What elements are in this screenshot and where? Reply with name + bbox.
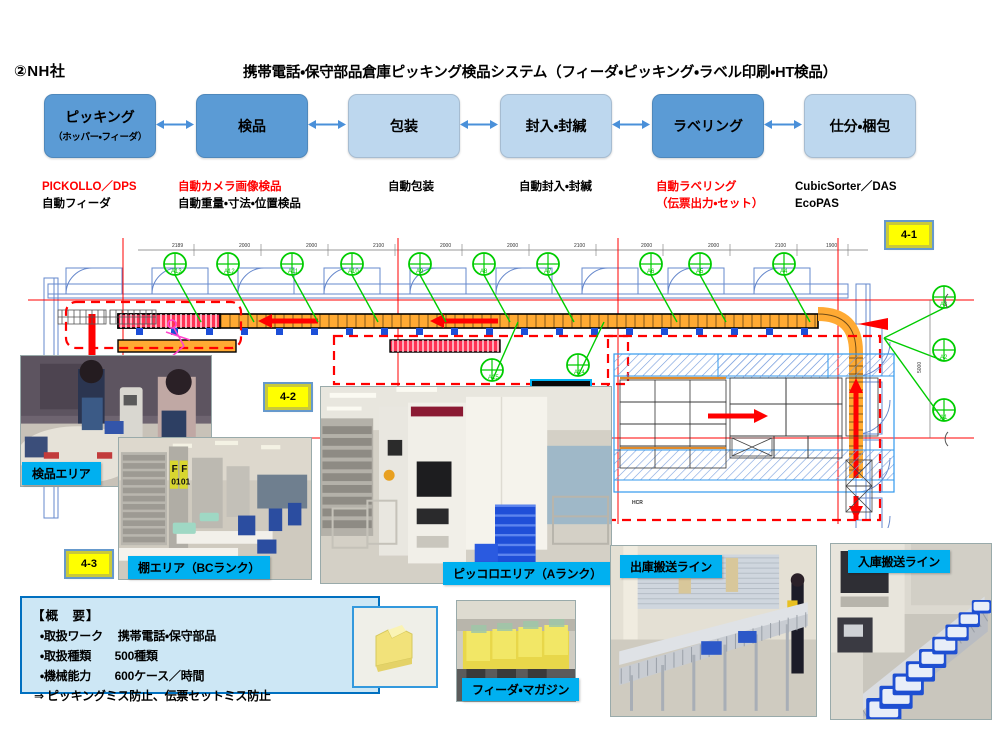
summary-title: 【概 要】 — [32, 605, 378, 624]
flow-arrow-5 — [764, 119, 802, 130]
flow-box-label: 封入・封緘 — [526, 118, 587, 134]
svg-text:2000: 2000 — [507, 243, 518, 249]
svg-text:A7: A7 — [544, 269, 552, 275]
svg-text:F: F — [181, 464, 187, 475]
slide-root: ②NH社 携帯電話・保守部品倉庫ピッキング検品システム（フィーダ・ピッキング・ラ… — [0, 0, 1000, 750]
flow-box-label: ピッキング — [65, 109, 135, 125]
flow-caption-line: 自動ラベリング — [656, 179, 763, 196]
flow-caption-line: 自動重量・寸法・位置検品 — [178, 196, 301, 213]
photo-caption-feeder-magazine: フィーダ・マガジン — [462, 678, 579, 701]
svg-text:A15: A15 — [488, 375, 499, 381]
summary-line-capacity: ・機械能力 600ケース／時間 — [32, 667, 378, 684]
flow-arrow-4 — [612, 119, 650, 130]
summary-line-work: ・取扱ワーク 携帯電話・保守部品 — [32, 627, 378, 644]
flow-caption-line: PICKOLLO／DPS — [42, 179, 137, 196]
svg-text:A9: A9 — [416, 269, 424, 275]
svg-text:2000: 2000 — [440, 243, 451, 249]
yellow-part-photo — [352, 606, 438, 688]
svg-text:A5: A5 — [696, 269, 704, 275]
flow-box-3[interactable]: 包装 — [348, 94, 460, 158]
company-label: ②NH社 — [14, 60, 65, 81]
photo-piccolo-area-a-rank — [320, 386, 612, 584]
svg-text:A2: A2 — [940, 355, 948, 361]
svg-text:A4: A4 — [780, 269, 788, 275]
flow-arrow-2 — [308, 119, 346, 130]
photo-caption-inbound-conveyor-line: 入庫搬送ライン — [848, 550, 950, 573]
svg-text:A6: A6 — [647, 269, 655, 275]
svg-text:2100: 2100 — [373, 243, 384, 249]
svg-text:A10: A10 — [348, 269, 359, 275]
summary-line-types: ・取扱種類 500種類 — [32, 647, 378, 664]
svg-text:2000: 2000 — [641, 243, 652, 249]
svg-text:A8: A8 — [480, 269, 488, 275]
svg-text:2000: 2000 — [239, 243, 250, 249]
flow-caption-1: PICKOLLO／DPS自動フィーダ — [42, 179, 137, 212]
flow-box-2[interactable]: 検品 — [196, 94, 308, 158]
callout-tag-label: 4-1 — [901, 229, 917, 241]
flow-caption-2: 自動カメラ画像検品自動重量・寸法・位置検品 — [178, 179, 301, 212]
callout-tag-4-1[interactable]: 4-1 — [886, 222, 932, 248]
process-flow-diagram: ピッキング（ホッパー・フィーダ）検品包装封入・封緘ラベリング仕分・梱包 — [0, 94, 1000, 162]
page-title: 携帯電話・保守部品倉庫ピッキング検品システム（フィーダ・ピッキング・ラベル印刷・… — [243, 61, 837, 82]
svg-text:A11: A11 — [288, 269, 299, 275]
svg-text:5000: 5000 — [917, 362, 923, 373]
flow-box-label: 仕分・梱包 — [830, 118, 891, 134]
photo-caption-shelf-area-bc-rank: 棚エリア（BCランク） — [128, 556, 270, 579]
flow-box-5[interactable]: ラベリング — [652, 94, 764, 158]
callout-tag-4-2[interactable]: 4-2 — [265, 384, 311, 410]
photo-caption-piccolo-area-a-rank: ピッコロエリア（Aランク） — [443, 562, 612, 585]
yellow-part-artwork — [354, 608, 436, 686]
flow-box-6[interactable]: 仕分・梱包 — [804, 94, 916, 158]
flow-arrow-1 — [156, 119, 194, 130]
flow-caption-line: 自動カメラ画像検品 — [178, 179, 301, 196]
svg-text:A12: A12 — [224, 269, 235, 275]
svg-text:2100: 2100 — [574, 243, 585, 249]
svg-text:2100: 2100 — [775, 243, 786, 249]
flow-caption-6: CubicSorter／DASEcoPAS — [795, 179, 897, 212]
svg-text:HCR: HCR — [632, 500, 643, 506]
callout-tag-4-3[interactable]: 4-3 — [66, 551, 112, 577]
flow-caption-line: CubicSorter／DAS — [795, 179, 897, 196]
svg-text:01: 01 — [171, 477, 181, 487]
svg-text:2189: 2189 — [172, 243, 183, 249]
flow-caption-line: （伝票出力・セット） — [656, 196, 763, 213]
flow-box-label: 検品 — [238, 118, 266, 134]
svg-text:A1: A1 — [940, 415, 948, 421]
callout-tag-label: 4-2 — [280, 391, 296, 403]
svg-text:F: F — [172, 464, 178, 475]
callout-tag-label: 4-3 — [81, 558, 97, 570]
svg-text:1900: 1900 — [826, 243, 837, 249]
svg-text:2000: 2000 — [306, 243, 317, 249]
flow-caption-line: 自動包装 — [388, 179, 434, 196]
flow-caption-5: 自動ラベリング（伝票出力・セット） — [656, 179, 763, 212]
svg-text:A13: A13 — [171, 269, 182, 275]
summary-conclusion: ⇒ ピッキングミス防止、伝票セットミス防止 — [32, 687, 378, 704]
flow-box-sublabel: （ホッパー・フィーダ） — [53, 129, 147, 143]
flow-box-label: 包装 — [390, 118, 418, 134]
photo-caption-outbound-conveyor-line: 出庫搬送ライン — [620, 555, 722, 578]
flow-caption-line: 自動封入・封緘 — [519, 179, 592, 196]
flow-box-label: ラベリング — [673, 118, 743, 134]
summary-box: 【概 要】 ・取扱ワーク 携帯電話・保守部品 ・取扱種類 500種類 ・機械能力… — [20, 596, 380, 694]
svg-text:2000: 2000 — [708, 243, 719, 249]
svg-text:A14: A14 — [574, 370, 585, 376]
flow-caption-4: 自動封入・封緘 — [519, 179, 592, 196]
photo-artwork — [321, 387, 611, 583]
svg-text:01: 01 — [181, 477, 191, 487]
photo-caption-inspection-area: 検品エリア — [22, 462, 101, 485]
flow-caption-line: 自動フィーダ — [42, 196, 137, 213]
flow-arrow-3 — [460, 119, 498, 130]
flow-box-1[interactable]: ピッキング（ホッパー・フィーダ） — [44, 94, 156, 158]
flow-caption-line: EcoPAS — [795, 196, 897, 213]
flow-box-4[interactable]: 封入・封緘 — [500, 94, 612, 158]
flow-caption-3: 自動包装 — [388, 179, 434, 196]
